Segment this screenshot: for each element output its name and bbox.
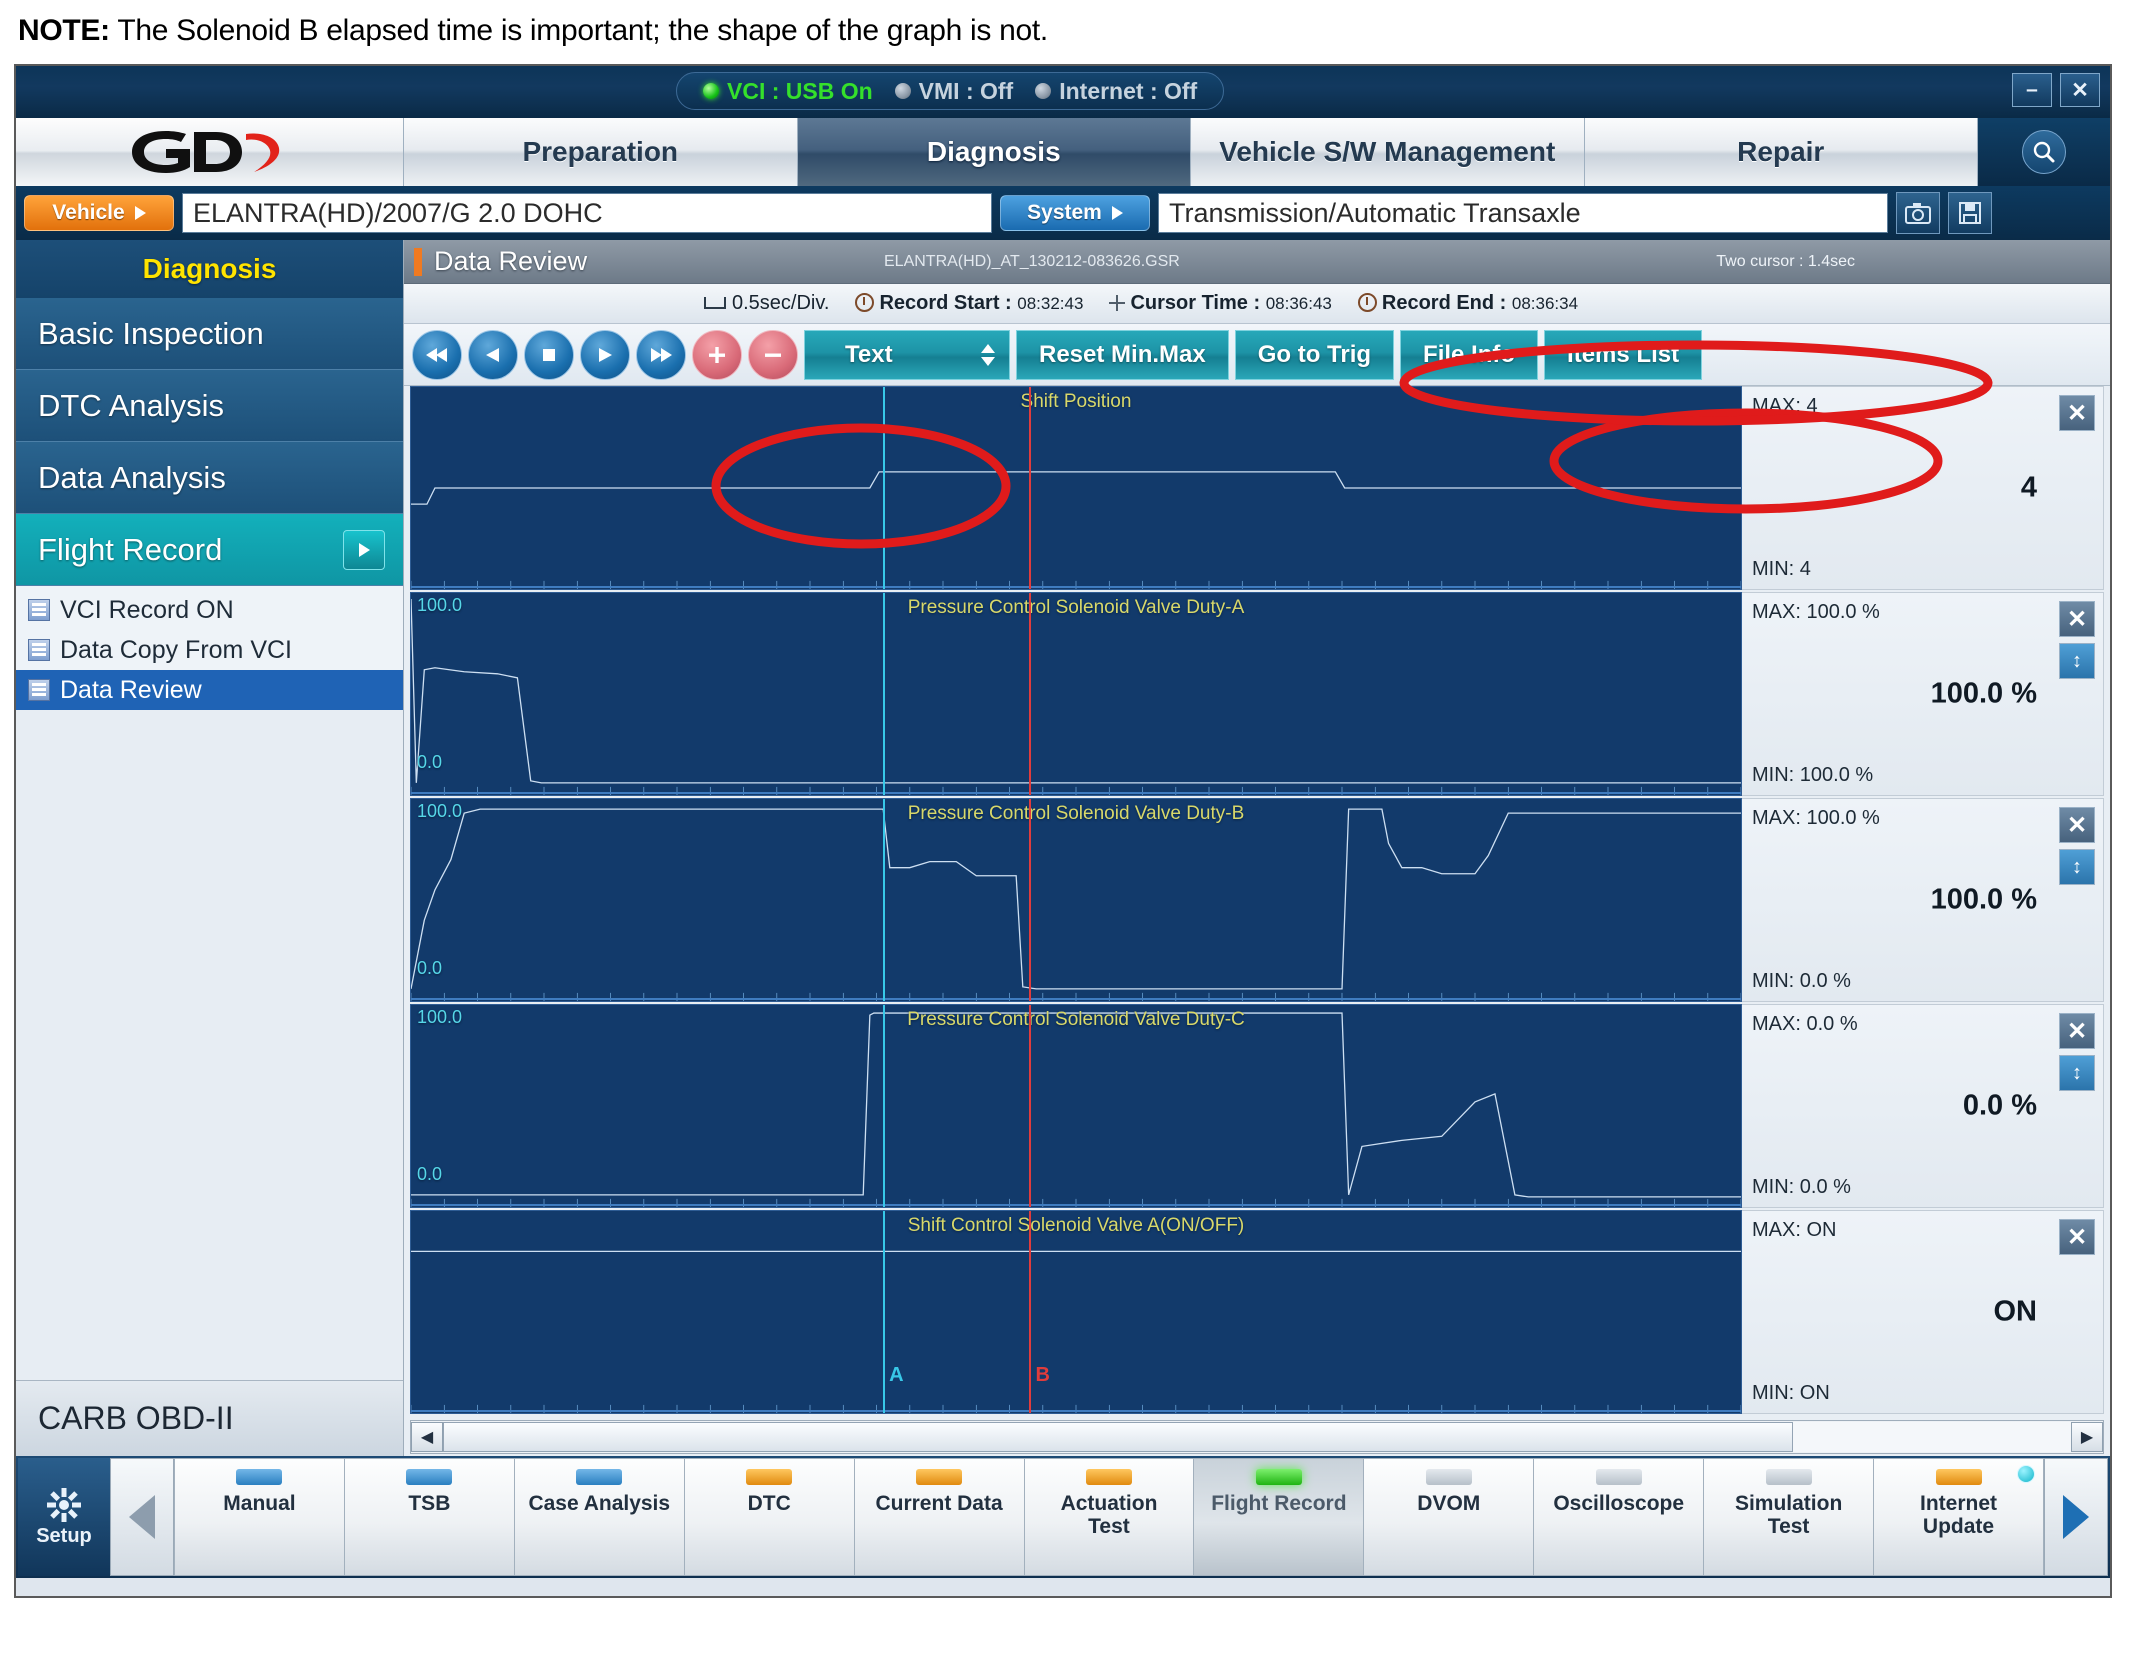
sidebar-subitem-label: Data Copy From VCI bbox=[60, 636, 292, 665]
cursor-a[interactable] bbox=[883, 1005, 885, 1207]
vehicle-system-bar: Vehicle ELANTRA(HD)/2007/G 2.0 DOHC Syst… bbox=[16, 186, 2110, 240]
taskbar-next-button[interactable] bbox=[2044, 1458, 2108, 1576]
taskbar-app-label: InternetUpdate bbox=[1918, 1493, 1999, 1538]
cursor-b[interactable] bbox=[1029, 799, 1031, 1001]
taskbar-app-internet-update[interactable]: InternetUpdate bbox=[1874, 1458, 2044, 1576]
readout-max: MAX: 4 bbox=[1752, 395, 1818, 418]
taskbar-app-dvom[interactable]: DVOM bbox=[1364, 1458, 1534, 1576]
vmi-led-icon bbox=[895, 83, 911, 99]
cursor-a-label: A bbox=[889, 1364, 903, 1387]
data-review-info-row: 0.5sec/Div. Record Start : 08:32:43 Curs… bbox=[404, 284, 2110, 324]
sidebar-subitem-label: Data Review bbox=[60, 676, 202, 705]
display-mode-select[interactable]: Text bbox=[804, 330, 1010, 380]
taskbar-app-oscilloscope[interactable]: Oscilloscope bbox=[1534, 1458, 1704, 1576]
search-icon bbox=[2022, 130, 2066, 174]
go-to-trig-button[interactable]: Go to Trig bbox=[1235, 330, 1394, 380]
readout-min: MIN: 0.0 % bbox=[1752, 1176, 1851, 1199]
y-axis-min-tick: 0.0 bbox=[417, 752, 442, 773]
readout-min: MIN: ON bbox=[1752, 1382, 1830, 1405]
two-cursor-delta: Two cursor : 1.4sec bbox=[1716, 253, 1855, 271]
readout-4: MAX: 0.0 %MIN: 0.0 %0.0 %✕↕ bbox=[1742, 1004, 2104, 1208]
taskbar-app-label: SimulationTest bbox=[1733, 1493, 1844, 1538]
readout-max: MAX: 100.0 % bbox=[1752, 807, 1880, 830]
sidebar-item-flight-record[interactable]: Flight Record bbox=[16, 514, 403, 586]
sidebar-subitem-data-review[interactable]: Data Review bbox=[16, 670, 403, 710]
taskbar-app-current-data[interactable]: Current Data bbox=[855, 1458, 1025, 1576]
gds-logo-icon bbox=[120, 125, 300, 179]
prev-arrow-icon bbox=[129, 1495, 155, 1539]
tab-vehicle-sw-management[interactable]: Vehicle S/W Management bbox=[1191, 118, 1585, 186]
sidebar-filler bbox=[16, 710, 403, 1380]
sidebar-item-dtc-analysis[interactable]: DTC Analysis bbox=[16, 370, 403, 442]
play-icon[interactable] bbox=[580, 330, 630, 380]
plot-svg bbox=[411, 799, 1741, 1001]
sidebar-subitem-vci-record-on[interactable]: VCI Record ON bbox=[16, 590, 403, 630]
plot-svg bbox=[411, 1211, 1741, 1413]
plot-3[interactable]: Pressure Control Solenoid Valve Duty-B10… bbox=[410, 798, 1742, 1002]
cursor-b[interactable] bbox=[1029, 1211, 1031, 1413]
taskbar-app-manual[interactable]: Manual bbox=[174, 1458, 345, 1576]
close-icon[interactable]: ✕ bbox=[2059, 601, 2095, 637]
readout-value: 100.0 % bbox=[1931, 884, 2037, 917]
list-icon bbox=[28, 639, 50, 661]
cursor-b[interactable] bbox=[1029, 1005, 1031, 1207]
cursor-a[interactable] bbox=[883, 799, 885, 1001]
cursor-a[interactable] bbox=[883, 593, 885, 795]
gear-icon bbox=[46, 1487, 82, 1523]
readout-5: MAX: ONMIN: ONON✕ bbox=[1742, 1210, 2104, 1414]
system-field[interactable]: Transmission/Automatic Transaxle bbox=[1158, 193, 1888, 233]
taskbar-app-label: Case Analysis bbox=[526, 1493, 672, 1516]
camera-icon[interactable] bbox=[1896, 192, 1940, 234]
plot-2[interactable]: Pressure Control Solenoid Valve Duty-A10… bbox=[410, 592, 1742, 796]
scroll-right-button[interactable]: ▶ bbox=[2071, 1422, 2103, 1452]
app-chip-icon bbox=[1086, 1469, 1132, 1485]
bottom-taskbar: Setup ManualTSBCase AnalysisDTCCurrent D… bbox=[16, 1456, 2110, 1578]
taskbar-app-label: DTC bbox=[746, 1493, 793, 1516]
title-strip: VCI : USB On VMI : Off Internet : Off – … bbox=[16, 66, 2110, 118]
readout-max: MAX: 0.0 % bbox=[1752, 1013, 1858, 1036]
vmi-status: VMI : Off bbox=[895, 78, 1014, 105]
sidebar-item-basic-inspection[interactable]: Basic Inspection bbox=[16, 298, 403, 370]
sidebar-item-label: Flight Record bbox=[38, 532, 222, 568]
taskbar-app-label: DVOM bbox=[1415, 1493, 1482, 1516]
spinner-icon bbox=[981, 344, 995, 366]
gds-application-window: VCI : USB On VMI : Off Internet : Off – … bbox=[14, 64, 2112, 1598]
reset-minmax-button[interactable]: Reset Min.Max bbox=[1016, 330, 1229, 380]
clock-end-icon bbox=[1358, 293, 1377, 312]
zoom-out-icon[interactable] bbox=[748, 330, 798, 380]
record-start: Record Start : 08:32:43 bbox=[855, 292, 1083, 315]
tab-preparation[interactable]: Preparation bbox=[404, 118, 798, 186]
taskbar-app-simulation-test[interactable]: SimulationTest bbox=[1704, 1458, 1874, 1576]
readout-min: MIN: 100.0 % bbox=[1752, 764, 1873, 787]
time-per-division: 0.5sec/Div. bbox=[704, 292, 829, 315]
next-arrow-icon bbox=[2063, 1495, 2089, 1539]
app-chip-icon bbox=[1256, 1469, 1302, 1485]
plot-svg bbox=[411, 1005, 1741, 1207]
sidebar-footer-carb-obd2[interactable]: CARB OBD-II bbox=[16, 1380, 403, 1456]
expand-vertical-icon[interactable]: ↕ bbox=[2059, 1055, 2095, 1091]
close-icon[interactable]: ✕ bbox=[2059, 1219, 2095, 1255]
graph-row: Pressure Control Solenoid Valve Duty-B10… bbox=[410, 798, 2104, 1004]
readout-2: MAX: 100.0 %MIN: 100.0 %100.0 %✕↕ bbox=[1742, 592, 2104, 796]
graph-row: Pressure Control Solenoid Valve Duty-A10… bbox=[410, 592, 2104, 798]
scroll-left-button[interactable]: ◀ bbox=[411, 1422, 443, 1452]
scroll-track[interactable] bbox=[443, 1422, 2071, 1452]
application-body: Diagnosis Basic Inspection DTC Analysis … bbox=[16, 240, 2110, 1456]
vehicle-select-button[interactable]: Vehicle bbox=[24, 195, 174, 231]
taskbar-app-flight-record[interactable]: Flight Record bbox=[1194, 1458, 1364, 1576]
app-chip-icon bbox=[576, 1469, 622, 1485]
fast-forward-icon[interactable] bbox=[636, 330, 686, 380]
scroll-thumb[interactable] bbox=[443, 1422, 1793, 1452]
setup-label: Setup bbox=[36, 1525, 92, 1548]
app-chip-icon bbox=[1596, 1469, 1642, 1485]
data-review-header: Data Review ELANTRA(HD)_AT_130212-083626… bbox=[404, 240, 2110, 284]
cursor-icon bbox=[1109, 295, 1125, 311]
graph-stack: Shift PositionMAX: 4MIN: 44✕Pressure Con… bbox=[404, 386, 2110, 1416]
file-info-button[interactable]: File Info bbox=[1400, 330, 1538, 380]
plot-1[interactable]: Shift Position bbox=[410, 386, 1742, 590]
y-axis-min-tick: 0.0 bbox=[417, 1164, 442, 1185]
chevron-right-icon bbox=[343, 530, 385, 570]
sidebar-title: Diagnosis bbox=[16, 240, 403, 298]
y-axis-max-tick: 100.0 bbox=[417, 1007, 462, 1028]
chevron-right-icon bbox=[135, 206, 146, 220]
expand-vertical-icon[interactable]: ↕ bbox=[2059, 849, 2095, 885]
vehicle-field[interactable]: ELANTRA(HD)/2007/G 2.0 DOHC bbox=[182, 193, 992, 233]
step-back-icon[interactable] bbox=[468, 330, 518, 380]
app-chip-icon bbox=[236, 1469, 282, 1485]
vci-status: VCI : USB On bbox=[703, 78, 873, 105]
tab-repair[interactable]: Repair bbox=[1585, 118, 1979, 186]
graph-row: Pressure Control Solenoid Valve Duty-C10… bbox=[410, 1004, 2104, 1210]
rewind-icon[interactable] bbox=[412, 330, 462, 380]
cursor-a[interactable] bbox=[883, 1211, 885, 1413]
internet-led-icon bbox=[1035, 83, 1051, 99]
global-search-button[interactable] bbox=[1978, 118, 2110, 186]
clock-start-icon bbox=[855, 293, 874, 312]
window-controls: – ✕ bbox=[2012, 73, 2100, 107]
graph-row: Shift Control Solenoid Valve A(ON/OFF)AB… bbox=[410, 1210, 2104, 1416]
readout-max: MAX: 100.0 % bbox=[1752, 601, 1880, 624]
readout-value: 100.0 % bbox=[1931, 678, 2037, 711]
taskbar-app-list: ManualTSBCase AnalysisDTCCurrent DataAct… bbox=[174, 1458, 2044, 1576]
items-list-button[interactable]: Items List bbox=[1544, 330, 1702, 380]
plot-5[interactable]: Shift Control Solenoid Valve A(ON/OFF)AB bbox=[410, 1210, 1742, 1414]
taskbar-app-dtc[interactable]: DTC bbox=[685, 1458, 855, 1576]
close-icon[interactable]: ✕ bbox=[2059, 395, 2095, 431]
gds-logo bbox=[16, 118, 404, 186]
readout-min: MIN: 0.0 % bbox=[1752, 970, 1851, 993]
stop-icon[interactable] bbox=[524, 330, 574, 380]
close-button[interactable]: ✕ bbox=[2060, 73, 2100, 107]
graph-row: Shift PositionMAX: 4MIN: 44✕ bbox=[410, 386, 2104, 592]
chevron-right-icon bbox=[1112, 206, 1123, 220]
page-title: Data Review bbox=[434, 246, 587, 277]
cursor-b[interactable] bbox=[1029, 593, 1031, 795]
expand-vertical-icon[interactable]: ↕ bbox=[2059, 643, 2095, 679]
plot-svg bbox=[411, 387, 1741, 589]
sidebar-subitem-data-copy-from-vci[interactable]: Data Copy From VCI bbox=[16, 630, 403, 670]
vci-led-icon bbox=[703, 83, 719, 99]
save-icon[interactable] bbox=[1948, 192, 1992, 234]
app-chip-icon bbox=[746, 1469, 792, 1485]
taskbar-app-label: Flight Record bbox=[1209, 1493, 1348, 1516]
sidebar-subitems: VCI Record ON Data Copy From VCI Data Re… bbox=[16, 586, 403, 710]
y-axis-max-tick: 100.0 bbox=[417, 801, 462, 822]
readout-value: ON bbox=[1994, 1296, 2038, 1329]
y-axis-min-tick: 0.0 bbox=[417, 958, 442, 979]
taskbar-app-label: ActuationTest bbox=[1059, 1493, 1160, 1538]
note-line: NOTE: The Solenoid B elapsed time is imp… bbox=[0, 0, 2129, 64]
division-icon bbox=[704, 297, 726, 309]
taskbar-app-label: Current Data bbox=[873, 1493, 1004, 1516]
note-prefix: NOTE: bbox=[18, 14, 110, 47]
cursor-time: Cursor Time : 08:36:43 bbox=[1109, 292, 1331, 315]
close-icon[interactable]: ✕ bbox=[2059, 1013, 2095, 1049]
app-chip-icon bbox=[1766, 1469, 1812, 1485]
taskbar-prev-button[interactable] bbox=[110, 1458, 174, 1576]
note-text: The Solenoid B elapsed time is important… bbox=[110, 14, 1048, 47]
update-badge-icon bbox=[2017, 1465, 2035, 1483]
cursor-a[interactable] bbox=[883, 387, 885, 589]
taskbar-app-label: Oscilloscope bbox=[1551, 1493, 1686, 1516]
sidebar-subitem-label: VCI Record ON bbox=[60, 596, 234, 625]
horizontal-scrollbar[interactable]: ◀ ▶ bbox=[410, 1420, 2104, 1454]
app-chip-icon bbox=[1426, 1469, 1472, 1485]
minimize-button[interactable]: – bbox=[2012, 73, 2052, 107]
playback-toolbar: Text Reset Min.Max Go to Trig File Info … bbox=[404, 324, 2110, 386]
cursor-b-label: B bbox=[1035, 1364, 1049, 1387]
plot-svg bbox=[411, 593, 1741, 795]
app-chip-icon bbox=[916, 1469, 962, 1485]
readout-value: 0.0 % bbox=[1963, 1090, 2037, 1123]
close-icon[interactable]: ✕ bbox=[2059, 807, 2095, 843]
sidebar: Diagnosis Basic Inspection DTC Analysis … bbox=[16, 240, 404, 1456]
readout-max: MAX: ON bbox=[1752, 1219, 1836, 1242]
taskbar-app-label: Manual bbox=[221, 1493, 297, 1516]
list-icon bbox=[28, 679, 50, 701]
readout-1: MAX: 4MIN: 44✕ bbox=[1742, 386, 2104, 590]
taskbar-app-actuation-test[interactable]: ActuationTest bbox=[1025, 1458, 1195, 1576]
main-navigation: Preparation Diagnosis Vehicle S/W Manage… bbox=[16, 118, 2110, 186]
plot-4[interactable]: Pressure Control Solenoid Valve Duty-C10… bbox=[410, 1004, 1742, 1208]
header-accent-bar bbox=[414, 248, 422, 276]
taskbar-app-label: TSB bbox=[406, 1493, 452, 1516]
cursor-b[interactable] bbox=[1029, 387, 1031, 589]
content-panel: Data Review ELANTRA(HD)_AT_130212-083626… bbox=[404, 240, 2110, 1456]
zoom-in-icon[interactable] bbox=[692, 330, 742, 380]
record-filename: ELANTRA(HD)_AT_130212-083626.GSR bbox=[884, 253, 1180, 271]
taskbar-app-case-analysis[interactable]: Case Analysis bbox=[515, 1458, 685, 1576]
taskbar-app-tsb[interactable]: TSB bbox=[345, 1458, 515, 1576]
sidebar-item-data-analysis[interactable]: Data Analysis bbox=[16, 442, 403, 514]
readout-3: MAX: 100.0 %MIN: 0.0 %100.0 %✕↕ bbox=[1742, 798, 2104, 1002]
readout-value: 4 bbox=[2021, 472, 2037, 505]
setup-button[interactable]: Setup bbox=[18, 1458, 110, 1576]
y-axis-max-tick: 100.0 bbox=[417, 595, 462, 616]
app-chip-icon bbox=[1936, 1469, 1982, 1485]
record-end: Record End : 08:36:34 bbox=[1358, 292, 1578, 315]
readout-min: MIN: 4 bbox=[1752, 558, 1811, 581]
tab-diagnosis[interactable]: Diagnosis bbox=[798, 118, 1192, 186]
app-chip-icon bbox=[406, 1469, 452, 1485]
connection-status-pill: VCI : USB On VMI : Off Internet : Off bbox=[676, 72, 1224, 110]
list-icon bbox=[28, 599, 50, 621]
internet-status: Internet : Off bbox=[1035, 78, 1197, 105]
system-select-button[interactable]: System bbox=[1000, 195, 1150, 231]
